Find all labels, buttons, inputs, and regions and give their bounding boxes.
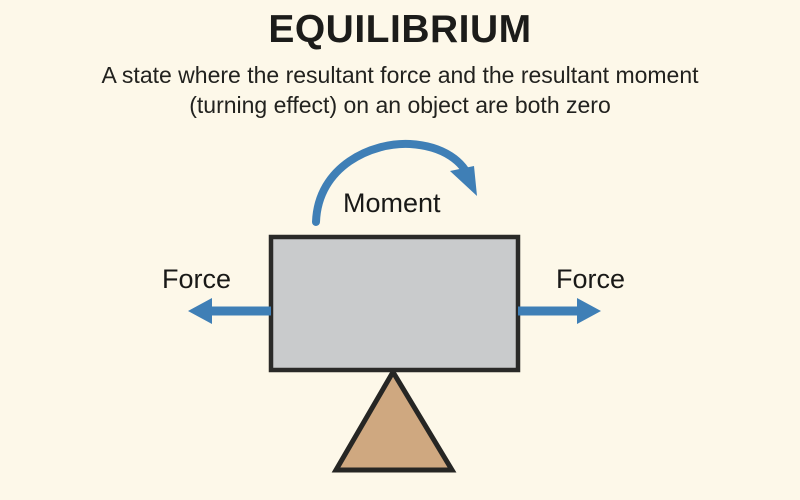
- moment-label: Moment: [343, 190, 441, 217]
- triangular-fulcrum-support: [336, 372, 452, 470]
- force-arrow-left-head: [188, 298, 212, 324]
- force-label-left: Force: [162, 266, 231, 293]
- diagram-svg: [0, 0, 800, 500]
- moment-arrow-head: [450, 166, 477, 196]
- rigid-body-block: [271, 237, 518, 370]
- force-arrow-right: [518, 298, 601, 324]
- force-arrow-right-head: [577, 298, 601, 324]
- equilibrium-diagram: [0, 0, 800, 500]
- diagram-canvas: EQUILIBRIUM A state where the resultant …: [0, 0, 800, 500]
- force-label-right: Force: [556, 266, 625, 293]
- force-arrow-left: [188, 298, 271, 324]
